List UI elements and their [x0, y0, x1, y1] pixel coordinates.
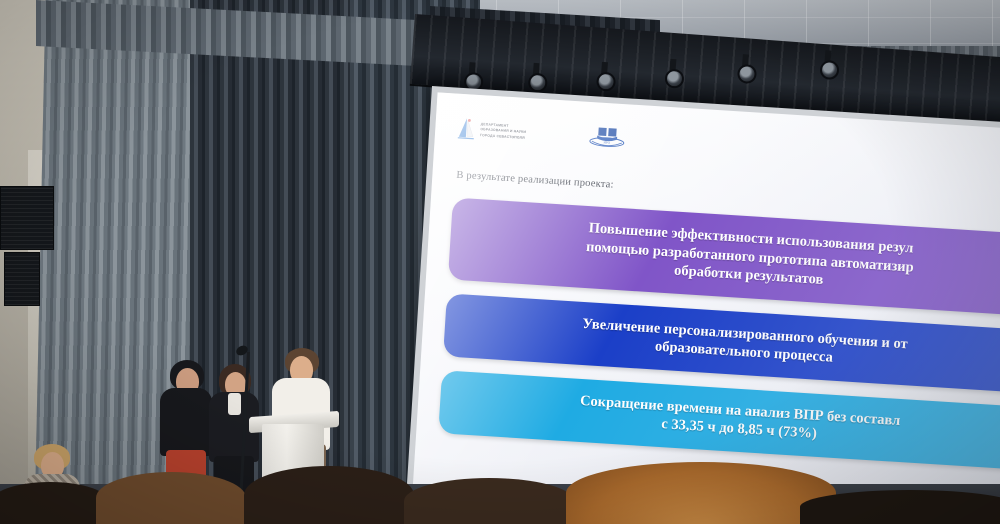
slide-subtitle: В результате реализации проекта: [456, 170, 614, 191]
foreground-head [566, 462, 836, 524]
result-bars: Повышение эффективности использования ре… [437, 198, 1000, 485]
speaker-grill [1, 187, 53, 249]
institute-emblem-logo: ИРО [583, 124, 631, 153]
foreground-head [800, 490, 1000, 524]
foreground-head [404, 478, 574, 524]
sail-icon [457, 117, 476, 142]
presentation-slide: ДЕПАРТАМЕНТ ОБРАЗОВАНИЯ И НАУКИ ГОРОДА С… [412, 92, 1000, 524]
slide-logos: ДЕПАРТАМЕНТ ОБРАЗОВАНИЯ И НАУКИ ГОРОДА С… [457, 116, 631, 153]
foreground-head [244, 466, 414, 524]
projection-screen-frame: ДЕПАРТАМЕНТ ОБРАЗОВАНИЯ И НАУКИ ГОРОДА С… [406, 86, 1000, 524]
department-of-education-sevastopol-logo: ДЕПАРТАМЕНТ ОБРАЗОВАНИЯ И НАУКИ ГОРОДА С… [457, 117, 527, 145]
department-logo-text: ДЕПАРТАМЕНТ ОБРАЗОВАНИЯ И НАУКИ ГОРОДА С… [480, 122, 527, 140]
foreground-head [96, 472, 246, 524]
torso [160, 388, 212, 456]
foreground-head [0, 482, 110, 524]
projection-screen: ДЕПАРТАМЕНТ ОБРАЗОВАНИЯ И НАУКИ ГОРОДА С… [412, 92, 1000, 524]
wall-speaker-upper [0, 186, 54, 250]
svg-text:ИРО: ИРО [603, 140, 610, 144]
wall-speaker-lower [4, 252, 40, 306]
shirt-collar [228, 393, 241, 415]
presentation-photo-scene: ДЕПАРТАМЕНТ ОБРАЗОВАНИЯ И НАУКИ ГОРОДА С… [0, 0, 1000, 524]
speaker-grill [5, 253, 39, 305]
